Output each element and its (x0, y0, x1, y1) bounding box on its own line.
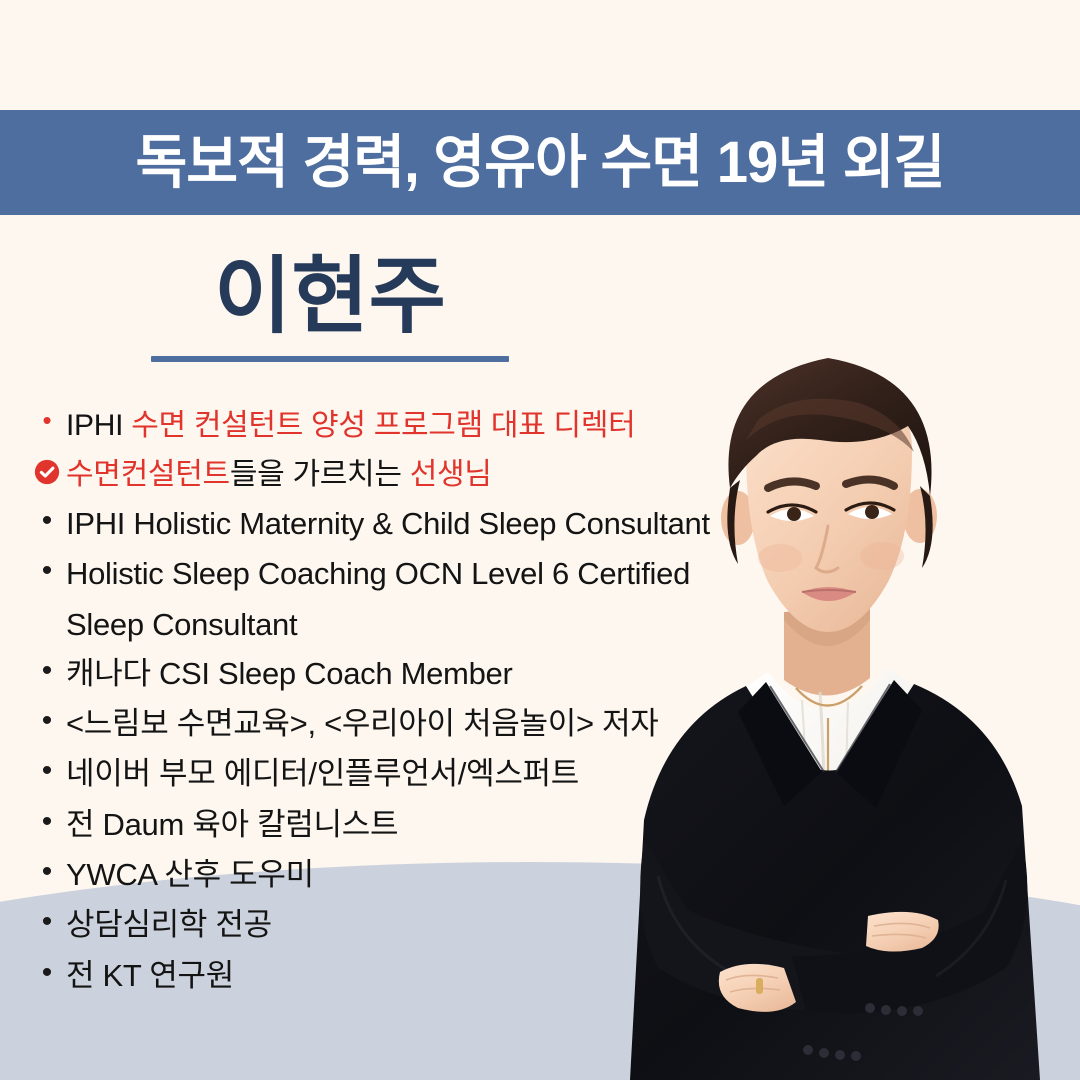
page-title: 이현주 (0, 252, 660, 340)
credential-text-segment: 캐나다 CSI Sleep Coach Member (66, 656, 512, 691)
check-circle-icon (34, 455, 60, 489)
credential-text-segment: Sleep Consultant (66, 607, 297, 642)
credential-text-segment: YWCA 산후 도우미 (66, 857, 314, 892)
bullet-spacer: • (34, 605, 60, 640)
credential-text: YWCA 산후 도우미 (60, 855, 314, 895)
credential-text-segment: 상담심리학 전공 (66, 907, 272, 942)
credential-text: 네이버 부모 에디터/인플루언서/엑스퍼트 (60, 754, 579, 794)
credential-text-segment: 수면 컨설턴트 양성 프로그램 대표 디렉터 (131, 409, 635, 442)
bullet-icon: • (34, 554, 60, 589)
bullet-icon: • (34, 855, 60, 890)
credential-text-segment: 들을 가르치는 (230, 458, 410, 491)
credential-text-segment: 네이버 부모 에디터/인플루언서/엑스퍼트 (66, 756, 579, 791)
credential-text: Sleep Consultant (60, 605, 297, 645)
credential-text: 캐나다 CSI Sleep Coach Member (60, 654, 512, 694)
credential-text: 전 KT 연구원 (60, 956, 234, 996)
credential-text: 전 Daum 육아 칼럼니스트 (60, 805, 398, 845)
header-banner: 독보적 경력, 영유아 수면 19년 외길 (0, 110, 1080, 215)
credential-text-segment: 전 KT 연구원 (66, 958, 234, 993)
bullet-icon: • (34, 654, 60, 689)
credential-text: IPHI 수면 컨설턴트 양성 프로그램 대표 디렉터 (60, 406, 635, 445)
credential-text: 상담심리학 전공 (60, 905, 272, 945)
bullet-icon: • (34, 406, 60, 436)
profile-card: 독보적 경력, 영유아 수면 19년 외길 이현주 •IPHI 수면 컨설턴트 … (0, 0, 1080, 1080)
profile-name-block: 이현주 (0, 252, 660, 362)
banner-title: 독보적 경력, 영유아 수면 19년 외길 (136, 134, 945, 192)
portrait-photo (570, 320, 1080, 1080)
credential-text-segment: 전 Daum 육아 칼럼니스트 (66, 807, 398, 842)
credential-text-segment: 선생님 (410, 458, 492, 491)
credential-text: 수면컨설턴트들을 가르치는 선생님 (60, 455, 492, 494)
bullet-icon: • (34, 805, 60, 840)
bullet-icon: • (34, 754, 60, 789)
bullet-icon: • (34, 956, 60, 991)
credential-text-segment: 수면컨설턴트 (66, 458, 230, 491)
bullet-icon: • (34, 504, 60, 539)
bullet-icon: • (34, 704, 60, 739)
credential-text: <느림보 수면교육>, <우리아이 처음놀이> 저자 (60, 704, 659, 744)
name-underline (151, 356, 509, 362)
credential-text-segment: IPHI (66, 409, 131, 442)
bullet-icon: • (34, 905, 60, 940)
